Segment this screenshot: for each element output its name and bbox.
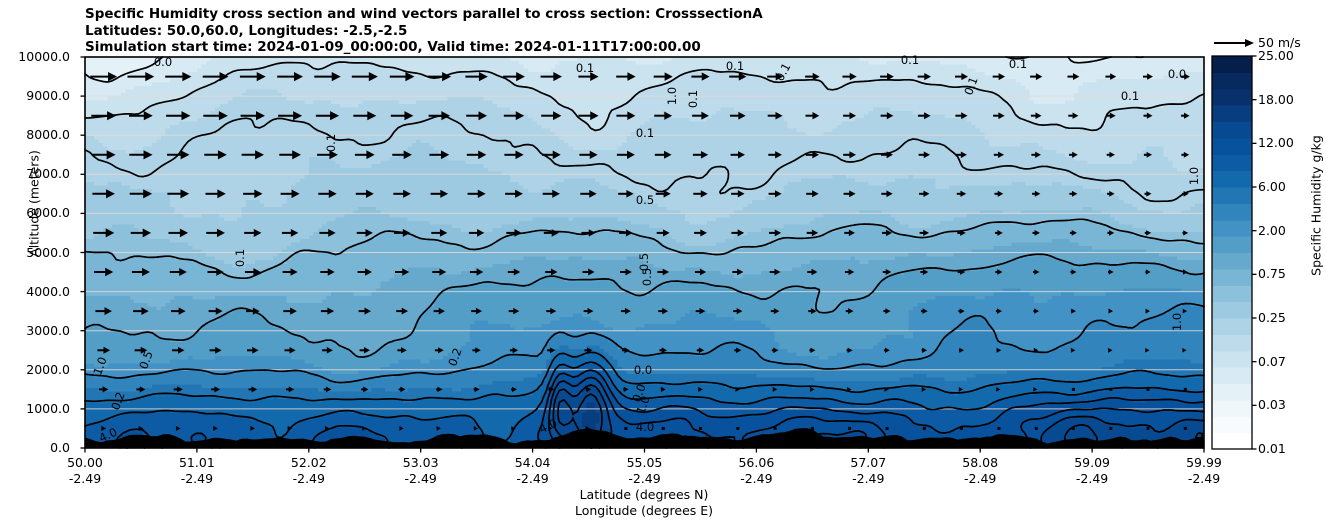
figure-title: Specific Humidity cross section and wind… [85,6,1185,56]
x-tick-latitude: 55.05 [600,455,690,470]
colorbar-tick: 0.07 [1258,354,1318,369]
cross-section-plot: 0.00.10.10.10.10.10.01.00.10.10.10.10.11… [0,0,1326,526]
x-axis-label-longitude: Longitude (degrees E) [444,503,844,518]
y-tick-altitude: 9000.0 [0,88,70,103]
colorbar-tick: 25.00 [1258,48,1318,63]
colorbar-tick: 12.00 [1258,135,1318,150]
x-tick-longitude: -2.49 [264,471,354,486]
x-axis-label-latitude: Latitude (degrees N) [444,487,844,502]
colorbar-tick: 0.25 [1258,310,1318,325]
y-tick-altitude: 10000.0 [0,49,70,64]
colorbar [1212,56,1257,450]
y-tick-altitude: 5000.0 [0,245,70,260]
x-tick-latitude: 54.04 [488,455,578,470]
y-tick-altitude: 3000.0 [0,323,70,338]
x-tick-latitude: 57.07 [823,455,913,470]
y-tick-altitude: 4000.0 [0,284,70,299]
figure-canvas: Specific Humidity cross section and wind… [0,0,1326,526]
x-tick-latitude: 53.03 [376,455,466,470]
y-tick-altitude: 2000.0 [0,362,70,377]
title-line-2: Latitudes: 50.0,60.0, Longitudes: -2.5,-… [85,23,1185,40]
y-tick-altitude: 1000.0 [0,401,70,416]
colorbar-tick: 18.00 [1258,92,1318,107]
x-tick-longitude: -2.49 [711,471,801,486]
title-line-3: Simulation start time: 2024-01-09_00:00:… [85,39,1185,56]
x-tick-latitude: 50.00 [40,455,130,470]
colorbar-tick: 0.01 [1258,441,1318,456]
x-tick-longitude: -2.49 [488,471,578,486]
x-tick-latitude: 52.02 [264,455,354,470]
x-tick-longitude: -2.49 [600,471,690,486]
colorbar-tick: 0.03 [1258,397,1318,412]
x-tick-longitude: -2.49 [1047,471,1137,486]
x-tick-longitude: -2.49 [376,471,466,486]
y-tick-altitude: 7000.0 [0,166,70,181]
x-tick-latitude: 58.08 [935,455,1025,470]
x-tick-longitude: -2.49 [40,471,130,486]
colorbar-tick: 0.75 [1258,266,1318,281]
title-line-1: Specific Humidity cross section and wind… [85,6,1185,23]
y-tick-altitude: 0.0 [0,440,70,455]
x-tick-longitude: -2.49 [935,471,1025,486]
x-tick-longitude: -2.49 [152,471,242,486]
x-tick-latitude: 59.09 [1047,455,1137,470]
x-tick-latitude: 59.99 [1159,455,1249,470]
x-tick-latitude: 51.01 [152,455,242,470]
right-arrow-icon [1212,34,1256,52]
colorbar-tick: 2.00 [1258,223,1318,238]
y-axis-label: Altitude (meters) [27,124,42,284]
y-tick-altitude: 6000.0 [0,205,70,220]
x-tick-latitude: 56.06 [711,455,801,470]
x-tick-longitude: -2.49 [1159,471,1249,486]
x-tick-longitude: -2.49 [823,471,913,486]
y-tick-altitude: 8000.0 [0,127,70,142]
colorbar-tick: 6.00 [1258,179,1318,194]
